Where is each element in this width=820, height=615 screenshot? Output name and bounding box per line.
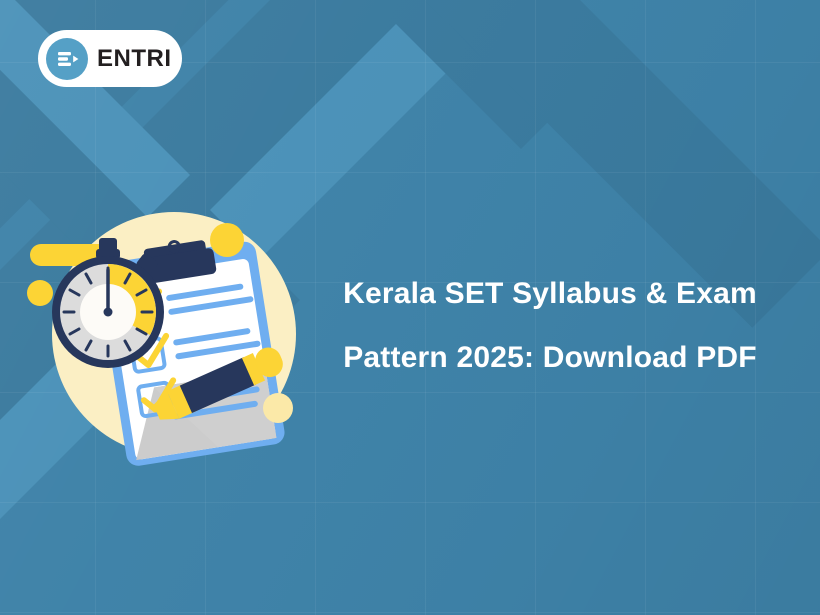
promo-banner: ENTRI Kerala SET Syllabus & Exam Pattern… bbox=[0, 0, 820, 615]
entri-logo[interactable]: ENTRI bbox=[38, 30, 182, 87]
page-title: Kerala SET Syllabus & Exam Pattern 2025:… bbox=[300, 262, 800, 390]
page-title-line-2: Pattern 2025: Download PDF bbox=[300, 326, 800, 390]
entri-e-play-mark-icon bbox=[46, 38, 88, 80]
stopwatch-checklist-illustration bbox=[22, 196, 322, 476]
page-title-line-1: Kerala SET Syllabus & Exam bbox=[300, 262, 800, 326]
entri-wordmark: ENTRI bbox=[97, 45, 172, 73]
